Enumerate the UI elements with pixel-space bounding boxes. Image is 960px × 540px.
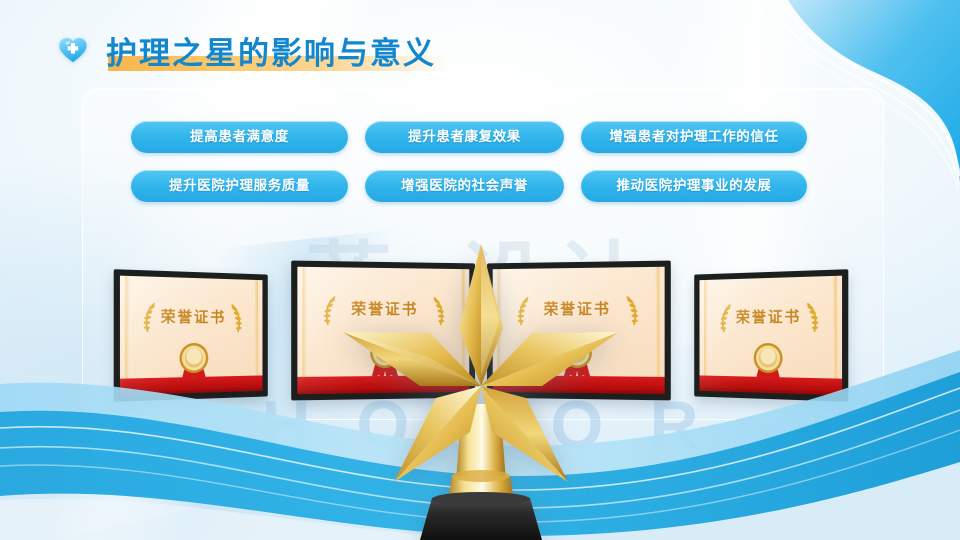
benefit-pill[interactable]: 提高患者满意度 — [131, 121, 348, 153]
benefit-pill[interactable]: 推动医院护理事业的发展 — [581, 170, 807, 202]
gold-star-trophy — [336, 236, 626, 540]
heart-cross-icon — [58, 35, 88, 65]
benefit-pill-grid: 提高患者满意度 提升患者康复效果 增强患者对护理工作的信任 提升医院护理服务质量… — [131, 121, 807, 202]
benefit-pill[interactable]: 提升医院护理服务质量 — [131, 170, 348, 202]
benefit-row: 提升医院护理服务质量 增强医院的社会声誉 推动医院护理事业的发展 — [131, 170, 807, 202]
page-title-text: 护理之星的影响与意义 — [106, 36, 436, 72]
page-title: 护理之星的影响与意义 — [58, 26, 436, 74]
slide-canvas: 蓝_设计 HONOR 护理之星的影响与意义 提高患者满意度 提升患者康复效果 — [0, 0, 960, 540]
benefit-pill[interactable]: 增强患者对护理工作的信任 — [581, 121, 807, 153]
benefit-row: 提高患者满意度 提升患者康复效果 增强患者对护理工作的信任 — [131, 121, 807, 153]
benefit-pill[interactable]: 提升患者康复效果 — [365, 121, 564, 153]
benefit-pill[interactable]: 增强医院的社会声誉 — [365, 170, 564, 202]
